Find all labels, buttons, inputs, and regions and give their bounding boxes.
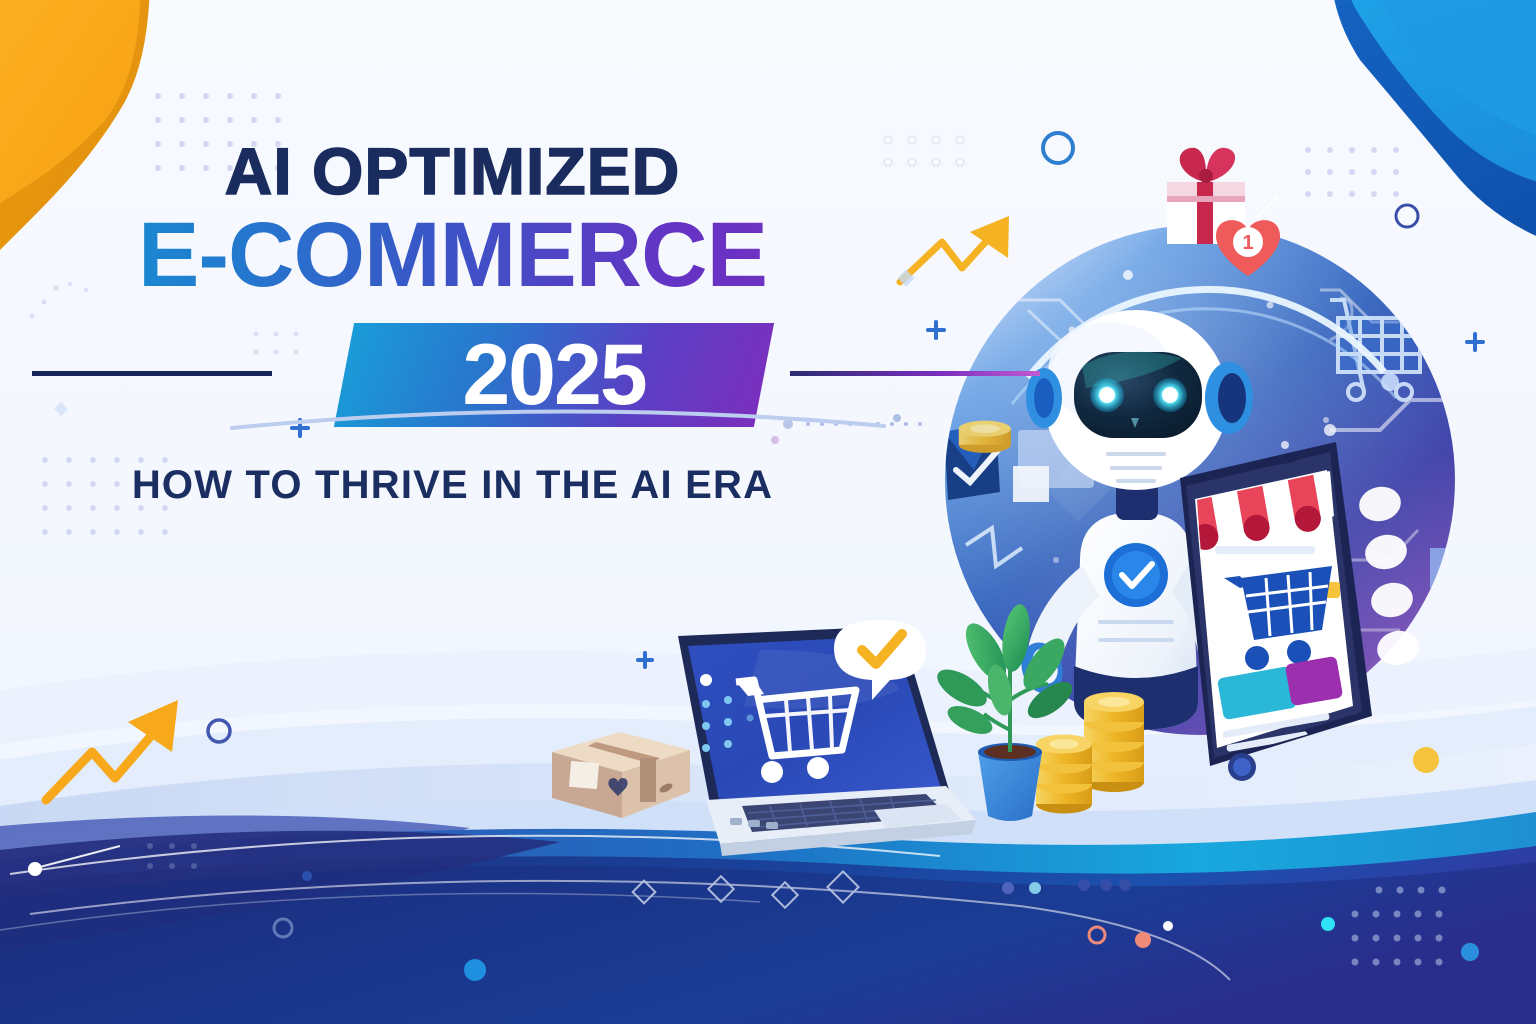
headline-main: E-COMMERCE [0, 209, 905, 301]
svg-text:1: 1 [1242, 232, 1253, 254]
banner-canvas: 1 [0, 0, 1536, 1024]
title-block: AI OPTIMIZED E-COMMERCE 2025 HOW TO THRI… [0, 138, 905, 508]
headline-top: AI OPTIMIZED [0, 138, 905, 205]
underline-swoosh [228, 402, 888, 430]
rule-left [32, 371, 272, 376]
subheadline: HOW TO THRIVE IN THE AI ERA [0, 463, 905, 508]
rule-right [790, 371, 1040, 376]
